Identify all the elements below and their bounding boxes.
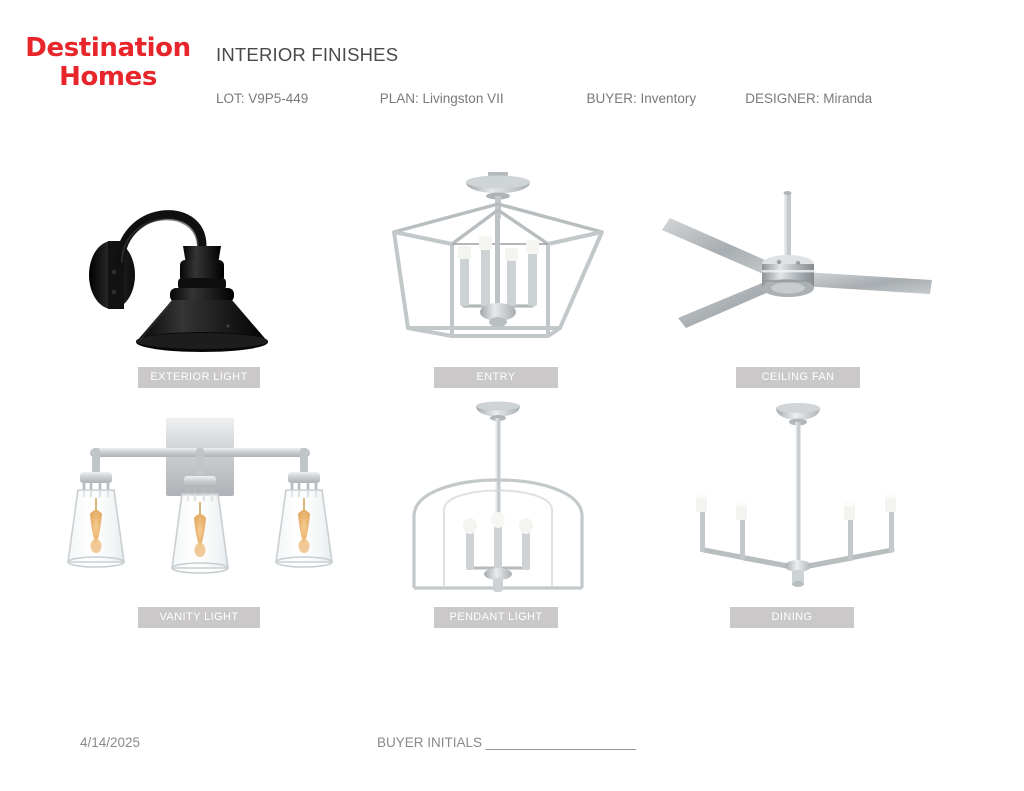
- selection-item-exterior-light[interactable]: EXTERIOR LIGHT: [50, 160, 350, 400]
- ceiling-fan-icon: [648, 160, 948, 365]
- cage-lantern-semi-flush-icon: [348, 160, 648, 365]
- three-light-vanity-icon: [50, 400, 350, 605]
- page-title: INTERIOR FINISHES: [216, 44, 398, 66]
- brand-logo: Destination Homes: [12, 34, 204, 92]
- selection-item-pendant-light[interactable]: PENDANT LIGHT: [348, 400, 648, 640]
- selection-grid: EXTERIOR LIGHT: [0, 150, 1024, 650]
- page-footer: 4/14/2025 BUYER INITIALS _______________…: [0, 730, 1024, 770]
- selection-item-vanity-light[interactable]: VANITY LIGHT: [50, 400, 350, 640]
- selection-item-ceiling-fan[interactable]: CEILING FAN: [648, 160, 948, 400]
- linear-arm-chandelier-icon: [648, 400, 948, 605]
- caption-pendant-light: PENDANT LIGHT: [434, 607, 558, 628]
- brand-logo-line-1: Destination: [12, 34, 204, 63]
- meta-buyer: BUYER: Inventory: [587, 91, 742, 106]
- arched-frame-pendant-icon: [348, 400, 648, 605]
- caption-entry: ENTRY: [434, 367, 558, 388]
- selection-item-dining[interactable]: DINING: [648, 400, 948, 640]
- page-header: Destination Homes INTERIOR FINISHES LOT:…: [0, 0, 1024, 130]
- project-meta-row: LOT: V9P5-449 PLAN: Livingston VII BUYER…: [216, 91, 1006, 106]
- caption-exterior-light: EXTERIOR LIGHT: [138, 367, 260, 388]
- caption-vanity-light: VANITY LIGHT: [138, 607, 260, 628]
- meta-designer: DESIGNER: Miranda: [745, 91, 915, 106]
- meta-plan: PLAN: Livingston VII: [380, 91, 583, 106]
- meta-lot: LOT: V9P5-449: [216, 91, 376, 106]
- caption-ceiling-fan: CEILING FAN: [736, 367, 860, 388]
- brand-logo-line-2: Homes: [12, 63, 204, 92]
- selection-item-entry[interactable]: ENTRY: [348, 160, 648, 400]
- caption-dining: DINING: [730, 607, 854, 628]
- footer-date: 4/14/2025: [80, 735, 140, 750]
- buyer-initials-field[interactable]: BUYER INITIALS ____________________: [377, 735, 636, 750]
- barn-wall-sconce-icon: [50, 160, 350, 365]
